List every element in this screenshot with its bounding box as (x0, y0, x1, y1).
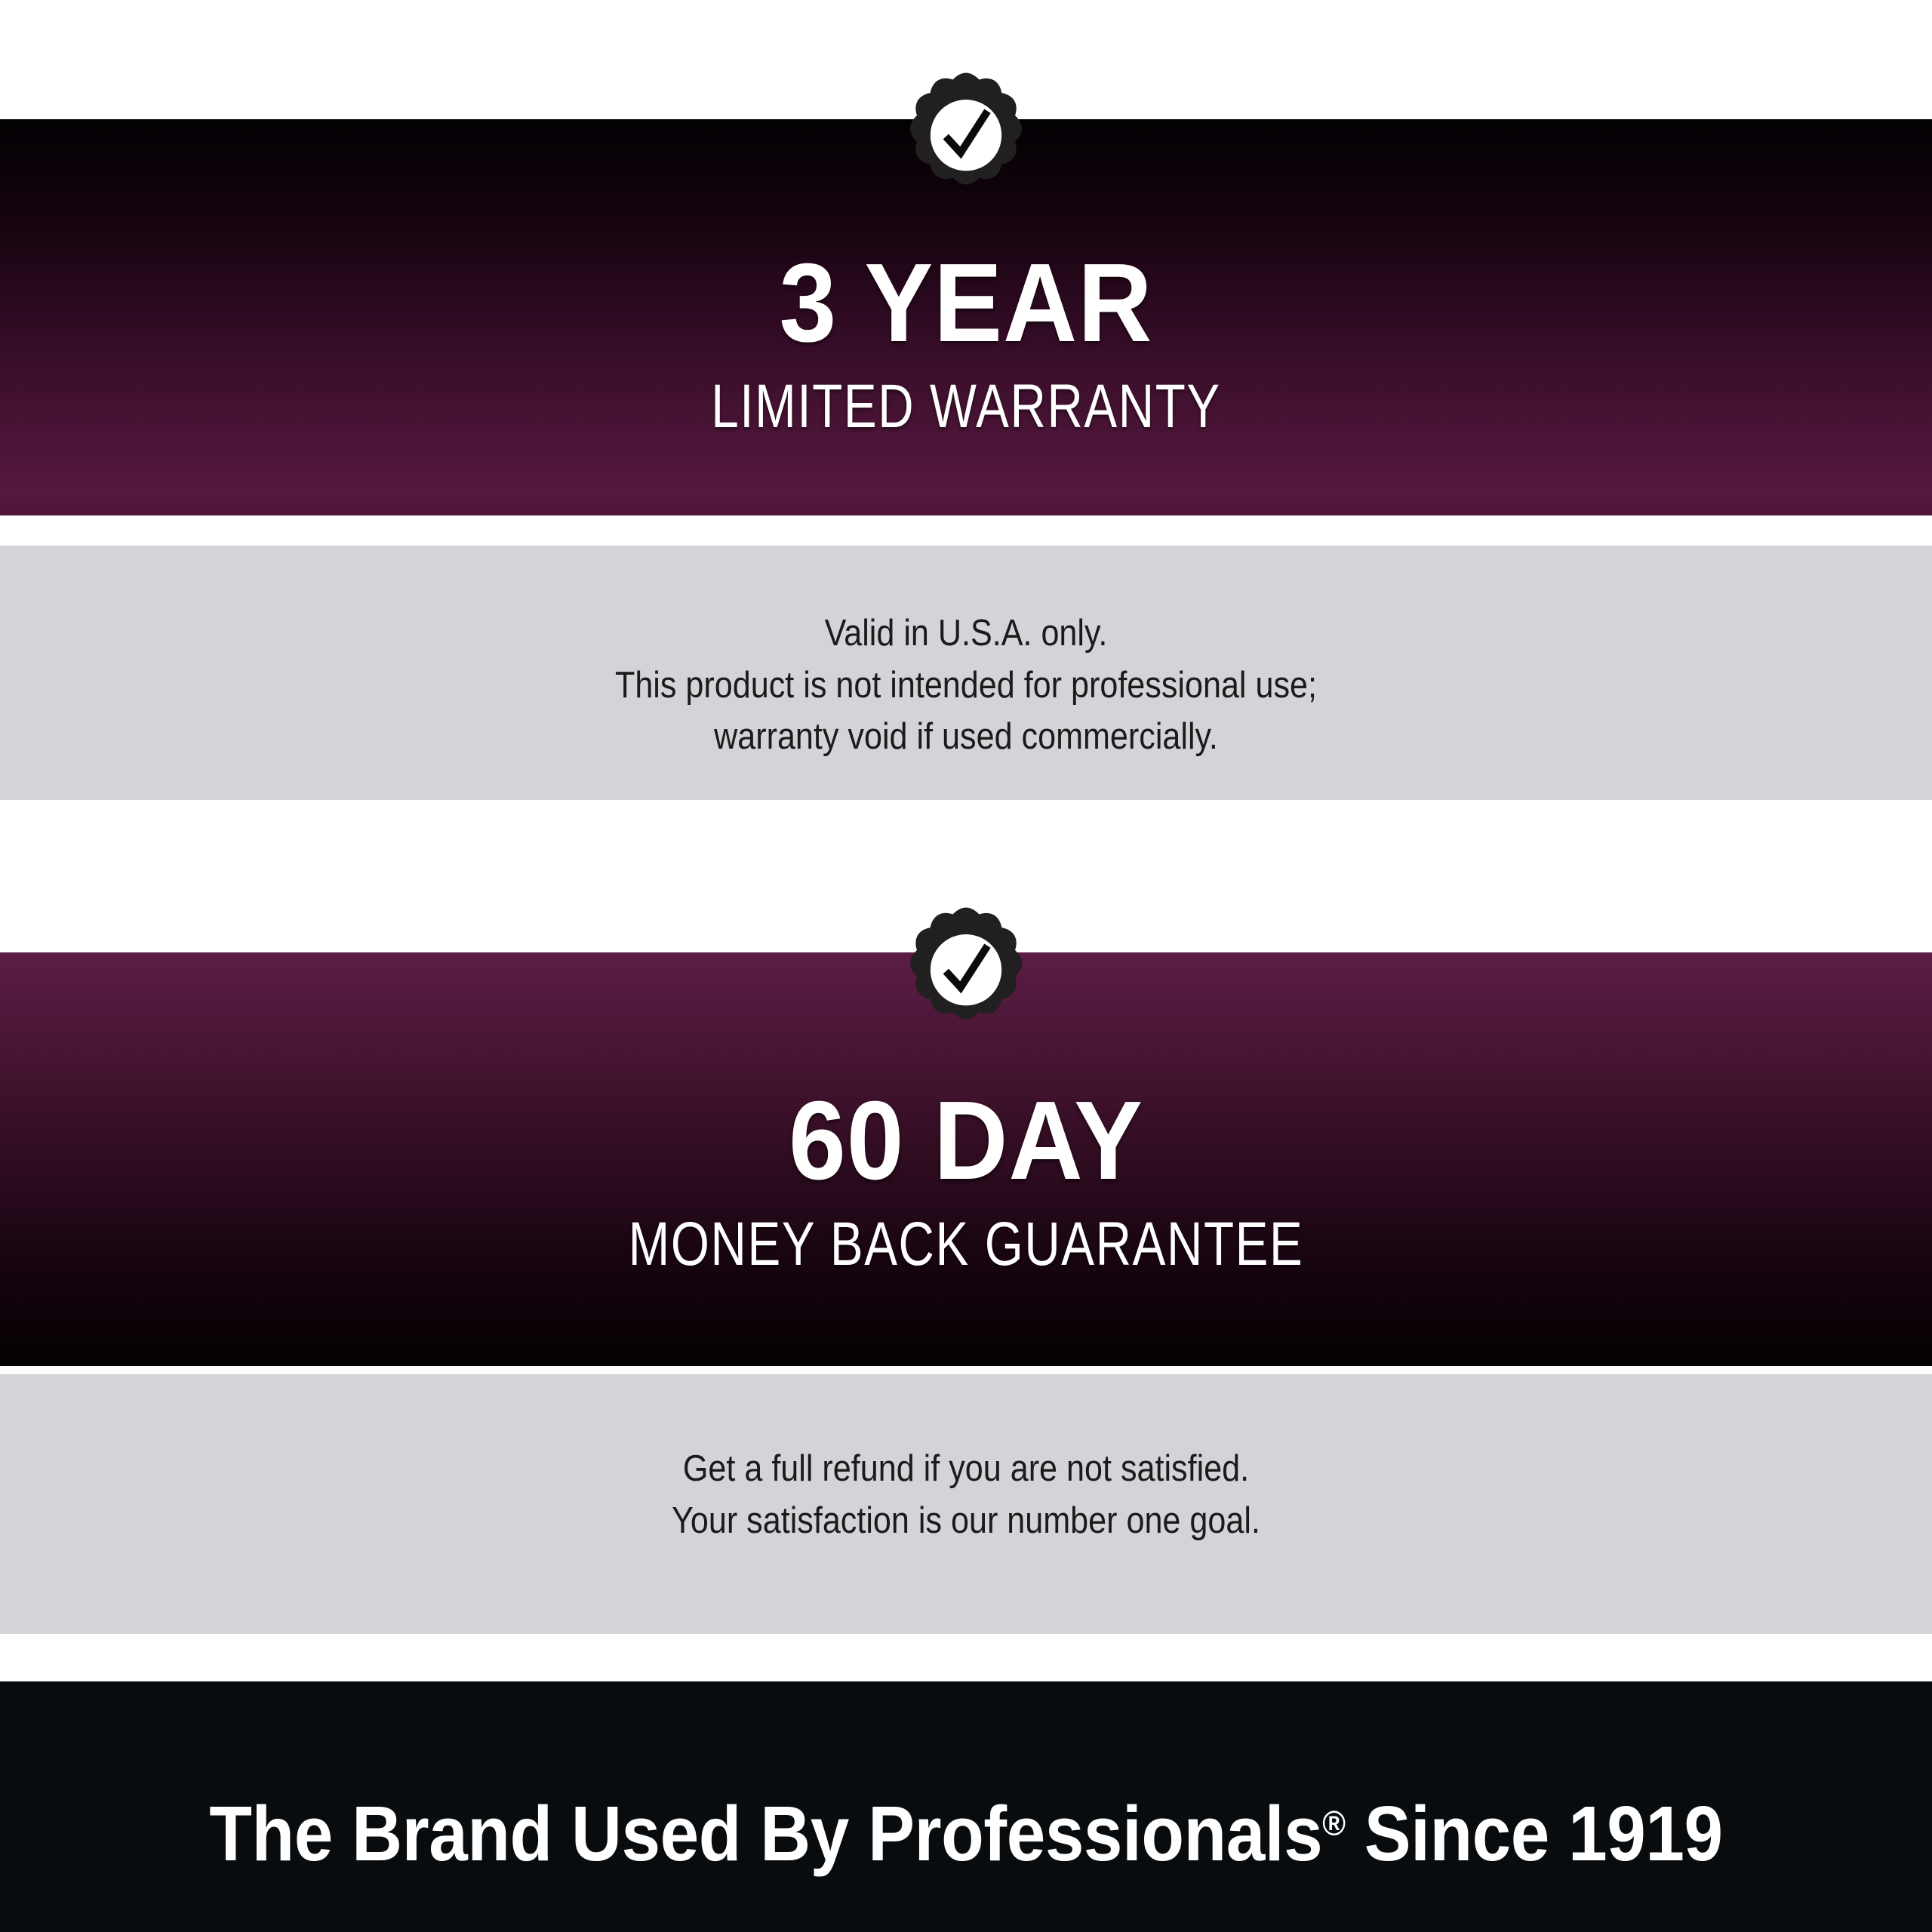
footer-tagline: The Brand Used By Professionals® Since 1… (97, 1795, 1835, 1872)
warranty-subheadline: LIMITED WARRANTY (193, 376, 1739, 438)
guarantee-fineprint: Get a full refund if you are not satisfi… (116, 1443, 1817, 1546)
guarantee-fineprint-line-1: Get a full refund if you are not satisfi… (116, 1443, 1817, 1495)
warranty-fineprint-line-1: Valid in U.S.A. only. (116, 608, 1817, 660)
check-seal-icon (899, 904, 1033, 1038)
warranty-fineprint: Valid in U.S.A. only. This product is no… (116, 608, 1817, 763)
warranty-headline: 3 YEAR (77, 248, 1854, 359)
footer-tagline-part2: Since 1919 (1345, 1790, 1722, 1877)
warranty-fineprint-line-3: warranty void if used commercially. (116, 711, 1817, 763)
guarantee-fineprint-line-2: Your satisfaction is our number one goal… (116, 1495, 1817, 1547)
check-seal-icon (899, 69, 1033, 204)
footer-tagline-part1: The Brand Used By Professionals (209, 1790, 1322, 1877)
warranty-headline-group: 3 YEAR LIMITED WARRANTY (0, 248, 1932, 438)
guarantee-headline-group: 60 DAY MONEY BACK GUARANTEE (0, 1085, 1932, 1275)
registered-trademark-icon: ® (1322, 1804, 1345, 1843)
warranty-guarantee-infographic: 3 YEAR LIMITED WARRANTY Valid in U.S.A. … (0, 0, 1932, 1932)
guarantee-headline: 60 DAY (77, 1085, 1854, 1197)
guarantee-subheadline: MONEY BACK GUARANTEE (193, 1214, 1739, 1275)
warranty-fineprint-line-2: This product is not intended for profess… (116, 660, 1817, 712)
